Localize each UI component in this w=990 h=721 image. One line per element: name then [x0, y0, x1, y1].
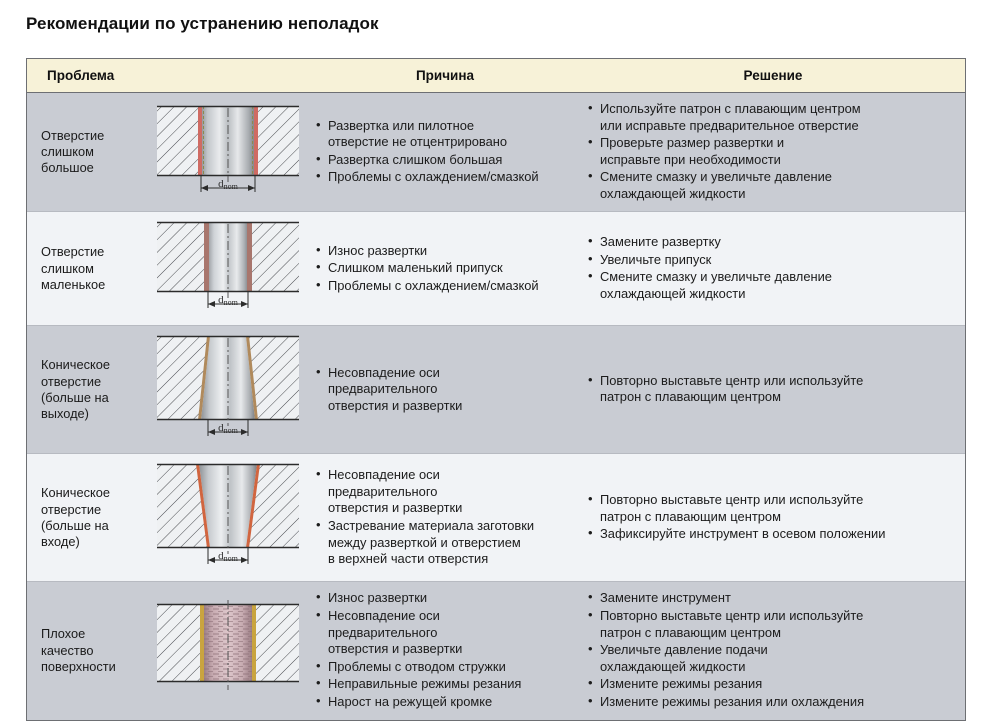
cell-problem: Плохое качество поверхности [27, 582, 147, 720]
cell-diagram: dnom [147, 212, 309, 326]
cell-solution: Повторно выставьте центр или используйте… [581, 454, 965, 582]
cell-solution: Повторно выставьте центр или используйте… [581, 326, 965, 454]
list-item: Повторно выставьте центр или используйте… [587, 608, 955, 641]
cause-list: Износ развертки Несовпадение оси предвар… [315, 590, 573, 710]
solution-list: Повторно выставьте центр или используйте… [587, 373, 955, 406]
cell-cause: Износ развертки Слишком маленький припус… [309, 212, 581, 326]
hole-too-small-diagram: dnom [153, 218, 303, 314]
solution-list: Замените развертку Увеличьте припуск Сме… [587, 234, 955, 302]
solution-list: Повторно выставьте центр или используйте… [587, 492, 955, 543]
cause-list: Развертка или пилотное отверстие не отце… [315, 118, 573, 186]
list-item: Несовпадение оси предварительного отверс… [315, 608, 573, 658]
list-item: Застревание материала заготовки между ра… [315, 518, 573, 568]
header-row: Проблема Причина Решение [27, 59, 965, 93]
cell-solution: Замените инструмент Повторно выставьте ц… [581, 582, 965, 720]
list-item: Замените инструмент [587, 590, 955, 607]
list-item: Несовпадение оси предварительного отверс… [315, 467, 573, 517]
table-row: Коническое отверстие (больше на выходе) [27, 326, 965, 454]
taper-wide-exit-diagram: dnom [153, 332, 303, 442]
cell-cause: Износ развертки Несовпадение оси предвар… [309, 582, 581, 720]
list-item: Развертка слишком большая [315, 152, 573, 169]
table-header: Проблема Причина Решение [27, 59, 965, 93]
troubleshooting-table-wrapper: Проблема Причина Решение Отверстие слишк… [26, 58, 966, 721]
list-item: Увеличьте давление подачи охлаждающей жи… [587, 642, 955, 675]
cell-solution: Используйте патрон с плавающим центром и… [581, 93, 965, 212]
list-item: Проблемы с отводом стружки [315, 659, 573, 676]
list-item: Нарост на режущей кромке [315, 694, 573, 711]
cell-diagram [147, 582, 309, 720]
list-item: Износ развертки [315, 243, 573, 260]
cause-list: Несовпадение оси предварительного отверс… [315, 467, 573, 567]
cell-problem: Коническое отверстие (больше на выходе) [27, 326, 147, 454]
list-item: Измените режимы резания или охлаждения [587, 694, 955, 711]
list-item: Износ развертки [315, 590, 573, 607]
taper-wide-entry-diagram: dnom [153, 460, 303, 570]
list-item: Неправильные режимы резания [315, 676, 573, 693]
table-row: Отверстие слишком большое [27, 93, 965, 212]
table-row: Коническое отверстие (больше на входе) [27, 454, 965, 582]
list-item: Повторно выставьте центр или используйте… [587, 373, 955, 406]
list-item: Смените смазку и увеличьте давление охла… [587, 169, 955, 202]
cause-list: Износ развертки Слишком маленький припус… [315, 243, 573, 295]
list-item: Проблемы с охлаждением/смазкой [315, 278, 573, 295]
cell-cause: Несовпадение оси предварительного отверс… [309, 454, 581, 582]
cell-diagram: dnom [147, 93, 309, 212]
cell-problem: Отверстие слишком большое [27, 93, 147, 212]
column-header-cause: Причина [309, 59, 581, 93]
table-row: Плохое качество поверхности [27, 582, 965, 720]
column-header-problem: Проблема [27, 59, 309, 93]
list-item: Измените режимы резания [587, 676, 955, 693]
cell-problem: Отверстие слишком маленькое [27, 212, 147, 326]
cause-list: Несовпадение оси предварительного отверс… [315, 365, 573, 415]
list-item: Несовпадение оси предварительного отверс… [315, 365, 573, 415]
solution-list: Используйте патрон с плавающим центром и… [587, 101, 955, 202]
page-title: Рекомендации по устранению неполадок [26, 14, 379, 34]
list-item: Повторно выставьте центр или используйте… [587, 492, 955, 525]
list-item: Замените развертку [587, 234, 955, 251]
cell-solution: Замените развертку Увеличьте припуск Сме… [581, 212, 965, 326]
list-item: Развертка или пилотное отверстие не отце… [315, 118, 573, 151]
cell-cause: Несовпадение оси предварительного отверс… [309, 326, 581, 454]
list-item: Используйте патрон с плавающим центром и… [587, 101, 955, 134]
table-body: Отверстие слишком большое [27, 93, 965, 720]
list-item: Слишком маленький припуск [315, 260, 573, 277]
cell-diagram: dnom [147, 454, 309, 582]
table-row: Отверстие слишком маленькое [27, 212, 965, 326]
list-item: Смените смазку и увеличьте давление охла… [587, 269, 955, 302]
cell-cause: Развертка или пилотное отверстие не отце… [309, 93, 581, 212]
list-item: Проверьте размер развертки и исправьте п… [587, 135, 955, 168]
list-item: Зафиксируйте инструмент в осевом положен… [587, 526, 955, 543]
cell-problem: Коническое отверстие (больше на входе) [27, 454, 147, 582]
hole-too-large-diagram: dnom [153, 102, 303, 198]
list-item: Проблемы с охлаждением/смазкой [315, 169, 573, 186]
column-header-solution: Решение [581, 59, 965, 93]
solution-list: Замените инструмент Повторно выставьте ц… [587, 590, 955, 710]
list-item: Увеличьте припуск [587, 252, 955, 269]
rough-surface-diagram [153, 598, 303, 698]
cell-diagram: dnom [147, 326, 309, 454]
troubleshooting-table: Проблема Причина Решение Отверстие слишк… [27, 59, 965, 720]
